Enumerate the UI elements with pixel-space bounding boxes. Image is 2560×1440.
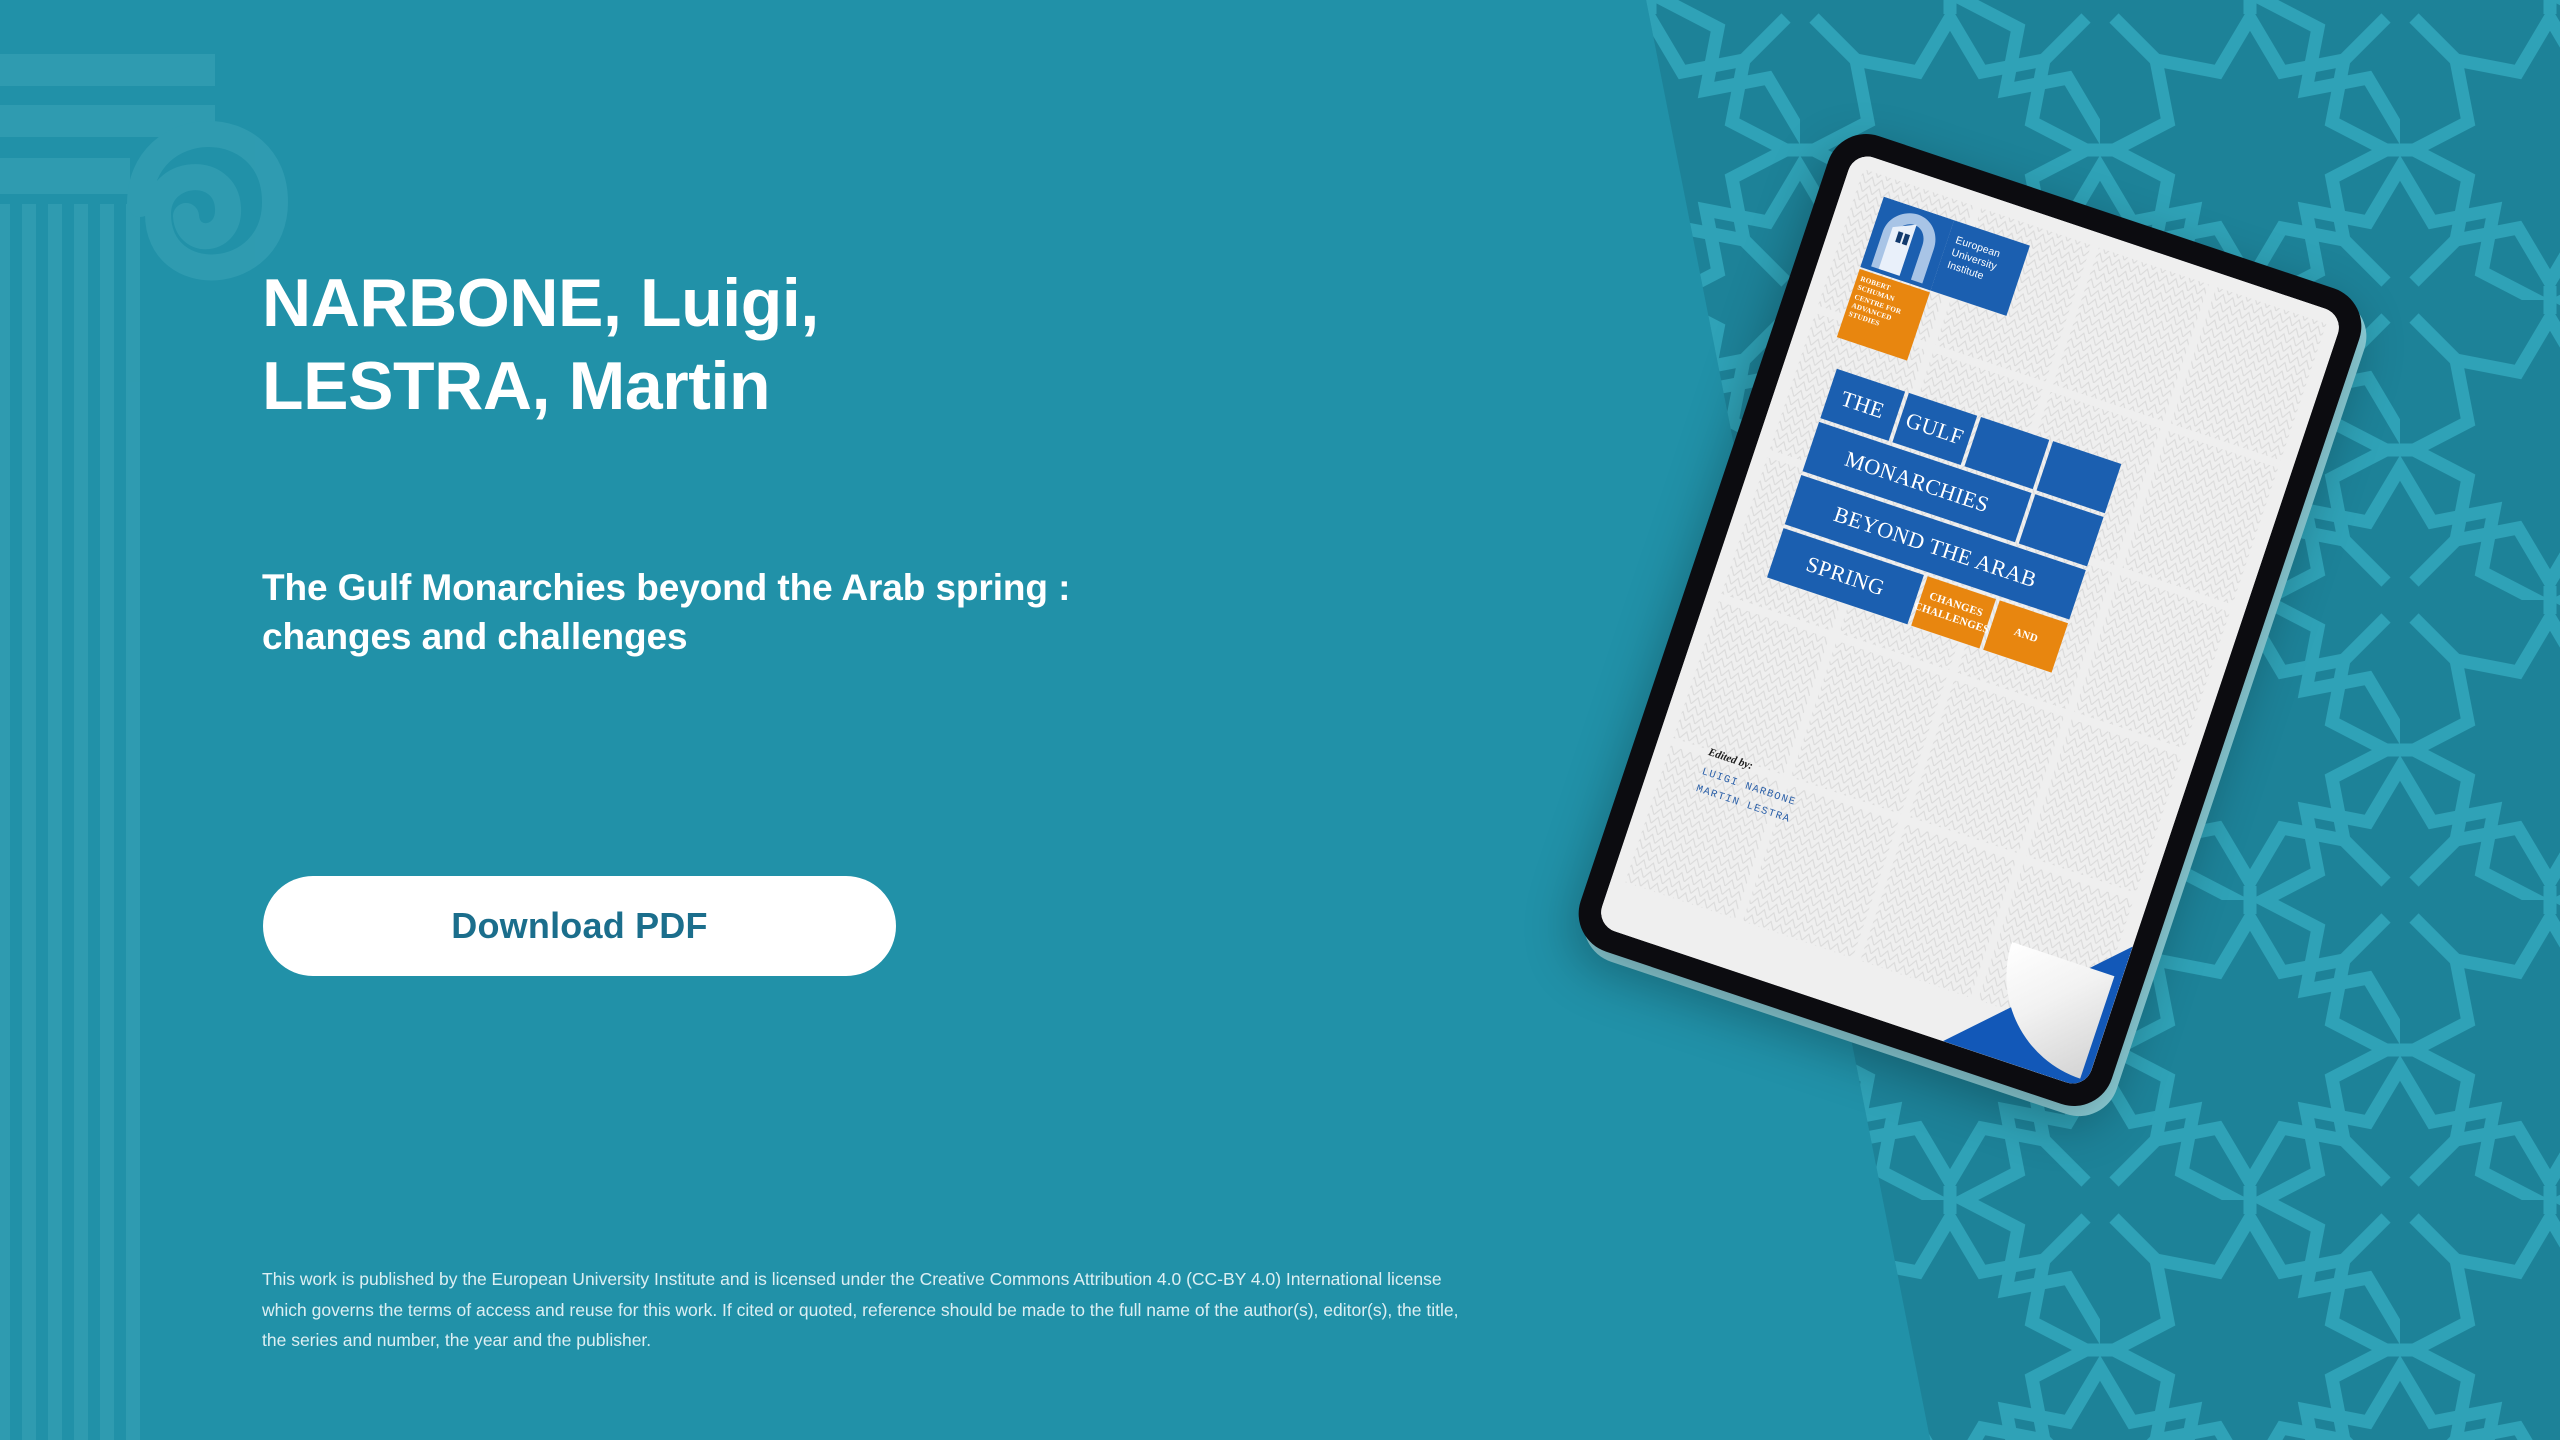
publication-title-line-1: The Gulf Monarchies beyond the Arab spri… — [262, 567, 1070, 608]
record-content: NARBONE, Luigi, LESTRA, Martin The Gulf … — [262, 0, 1562, 1440]
tablet-device: European University Institute ROBERT SCH… — [1568, 123, 2372, 1116]
authors-line-2: LESTRA, Martin — [262, 348, 770, 424]
download-pdf-button[interactable]: Download PDF — [263, 876, 896, 976]
cover-tile-word: CHANGES — [1927, 590, 1984, 621]
license-line-1: This work is published by the European U… — [262, 1264, 1642, 1295]
cover-title-grid: THE GULF MONARCHIES BEYOND THE ARAB — [1767, 369, 2121, 673]
cover-tile-word: CHALLENGES — [1912, 600, 1991, 638]
tablet-screen: European University Institute ROBERT SCH… — [1596, 151, 2344, 1089]
license-line-2: which governs the terms of access and re… — [262, 1295, 1642, 1326]
tablet-mockup: European University Institute ROBERT SCH… — [1640, 130, 2560, 1310]
download-pdf-label: Download PDF — [451, 905, 707, 947]
license-line-3: the series and number, the year and the … — [262, 1325, 1642, 1356]
authors-line-1: NARBONE, Luigi, — [262, 265, 819, 341]
book-cover: European University Institute ROBERT SCH… — [1596, 151, 2344, 1089]
publication-title-line-2: changes and challenges — [262, 616, 688, 657]
license-notice: This work is published by the European U… — [262, 1264, 1642, 1356]
page-title: NARBONE, Luigi, LESTRA, Martin — [262, 262, 1462, 428]
publication-title: The Gulf Monarchies beyond the Arab spri… — [262, 564, 1482, 662]
cover-edited-by: Edited by: LUIGI NARBONE MARTIN LESTRA — [1693, 747, 1804, 829]
